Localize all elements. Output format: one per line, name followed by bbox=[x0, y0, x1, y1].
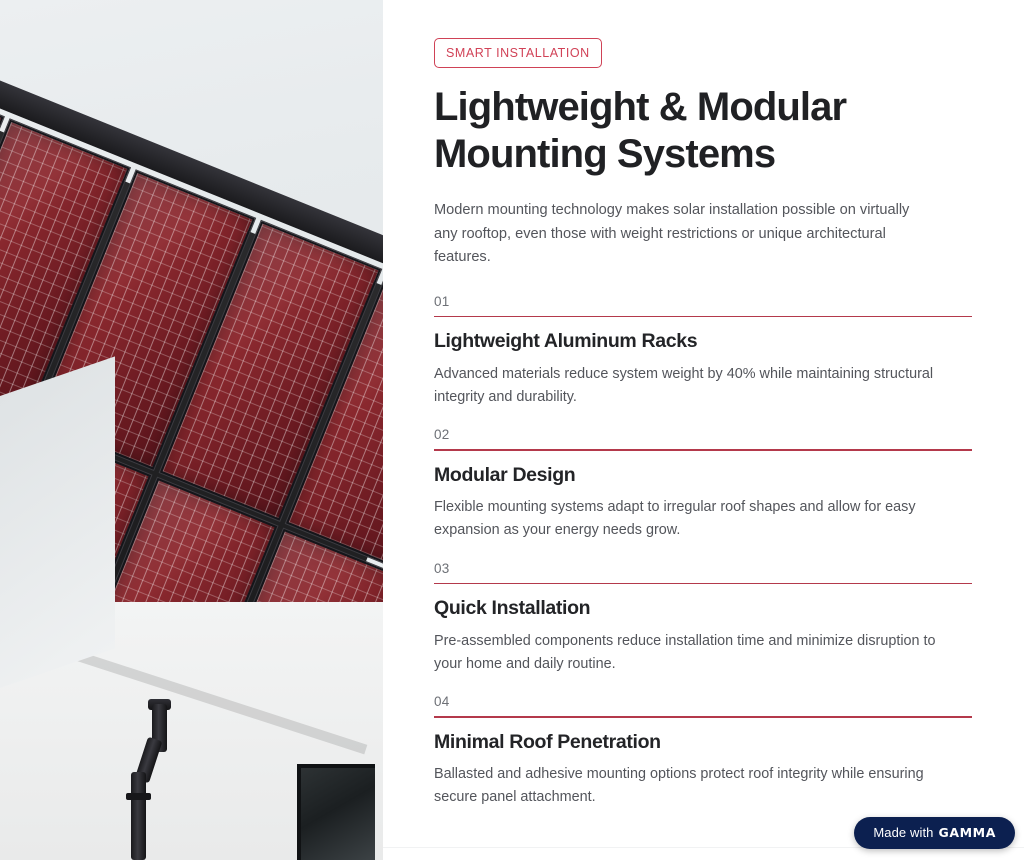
feature-divider bbox=[434, 449, 972, 451]
feature-title: Minimal Roof Penetration bbox=[434, 730, 972, 754]
eyebrow-badge: SMART INSTALLATION bbox=[434, 38, 602, 68]
feature-divider bbox=[434, 716, 972, 718]
feature-title: Quick Installation bbox=[434, 596, 972, 620]
feature-number: 01 bbox=[434, 294, 972, 316]
feature-description: Pre-assembled components reduce installa… bbox=[434, 630, 964, 694]
made-with-gamma-badge[interactable]: Made with GAMMA bbox=[854, 817, 1015, 850]
feature-number: 04 bbox=[434, 694, 972, 716]
feature-item-03: 03 Quick Installation Pre-assembled comp… bbox=[434, 560, 972, 694]
feature-number: 02 bbox=[434, 427, 972, 449]
feature-number: 03 bbox=[434, 561, 972, 583]
slide-page: SMART INSTALLATION Lightweight & Modular… bbox=[0, 0, 1024, 860]
feature-title: Lightweight Aluminum Racks bbox=[434, 329, 972, 353]
solar-roof-illustration bbox=[0, 0, 383, 860]
house-window bbox=[297, 764, 375, 860]
hero-photo bbox=[0, 0, 383, 860]
feature-title: Modular Design bbox=[434, 463, 972, 487]
feature-divider bbox=[434, 583, 972, 585]
feature-divider bbox=[434, 316, 972, 318]
feature-description: Advanced materials reduce system weight … bbox=[434, 363, 964, 427]
feature-item-01: 01 Lightweight Aluminum Racks Advanced m… bbox=[434, 293, 972, 427]
feature-description: Flexible mounting systems adapt to irreg… bbox=[434, 496, 964, 560]
feature-list: 01 Lightweight Aluminum Racks Advanced m… bbox=[434, 293, 972, 827]
page-title: Lightweight & Modular Mounting Systems bbox=[434, 84, 954, 178]
downpipe-bracket bbox=[126, 793, 151, 800]
gable-end bbox=[0, 356, 115, 688]
feature-item-04: 04 Minimal Roof Penetration Ballasted an… bbox=[434, 693, 972, 827]
feature-item-02: 02 Modular Design Flexible mounting syst… bbox=[434, 426, 972, 560]
downpipe-lower bbox=[131, 772, 146, 860]
gamma-wordmark: GAMMA bbox=[939, 827, 997, 840]
made-with-label: Made with bbox=[873, 826, 933, 839]
intro-paragraph: Modern mounting technology makes solar i… bbox=[434, 199, 934, 270]
content-column: SMART INSTALLATION Lightweight & Modular… bbox=[383, 0, 1024, 860]
